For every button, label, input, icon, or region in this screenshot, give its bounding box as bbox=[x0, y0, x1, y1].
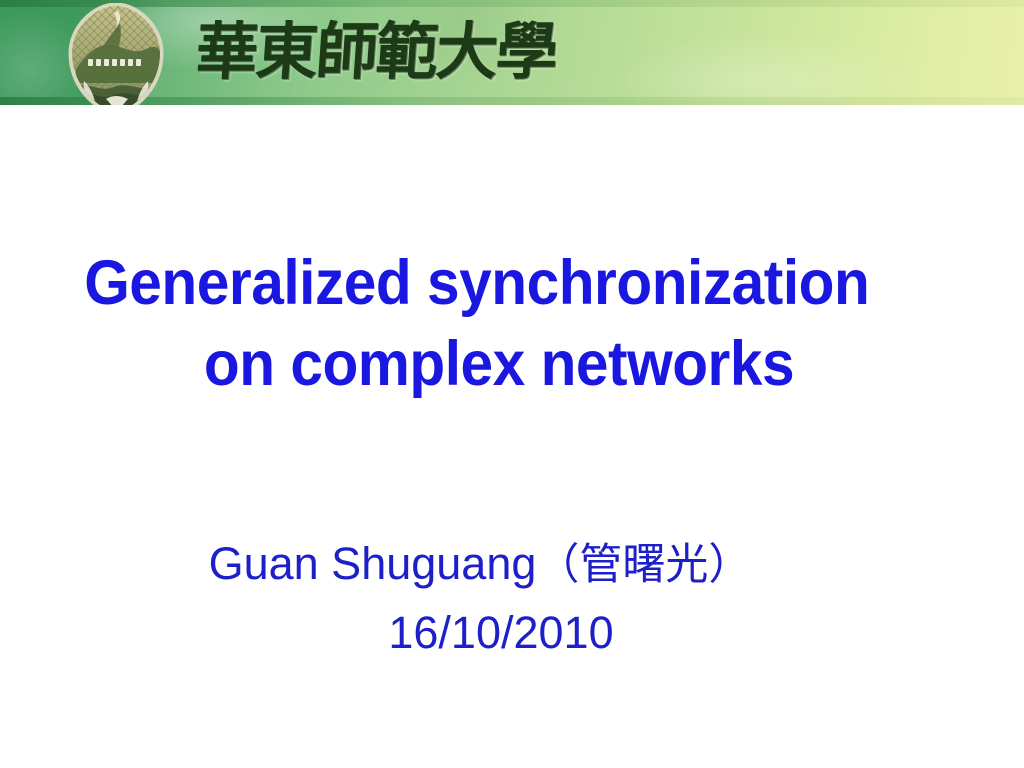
presentation-date: 16/10/2010 bbox=[48, 599, 976, 666]
slide-title: Generalized synchronization on complex n… bbox=[80, 243, 943, 405]
university-name-cn: 華東師範大學 bbox=[193, 11, 559, 93]
slide-byline: Guan Shuguang（管曙光） 16/10/2010 bbox=[48, 530, 976, 666]
author-name-cn: （管曙光） bbox=[536, 540, 751, 590]
slide-title-line-1: Generalized synchronization bbox=[80, 243, 943, 324]
author-name-latin: Guan Shuguang bbox=[209, 538, 537, 589]
slide-title-line-2: on complex networks bbox=[80, 324, 943, 405]
author-line: Guan Shuguang（管曙光） bbox=[48, 530, 976, 599]
header-banner: 華東師範大學 bbox=[0, 0, 1024, 105]
university-crest-icon bbox=[62, 3, 170, 105]
